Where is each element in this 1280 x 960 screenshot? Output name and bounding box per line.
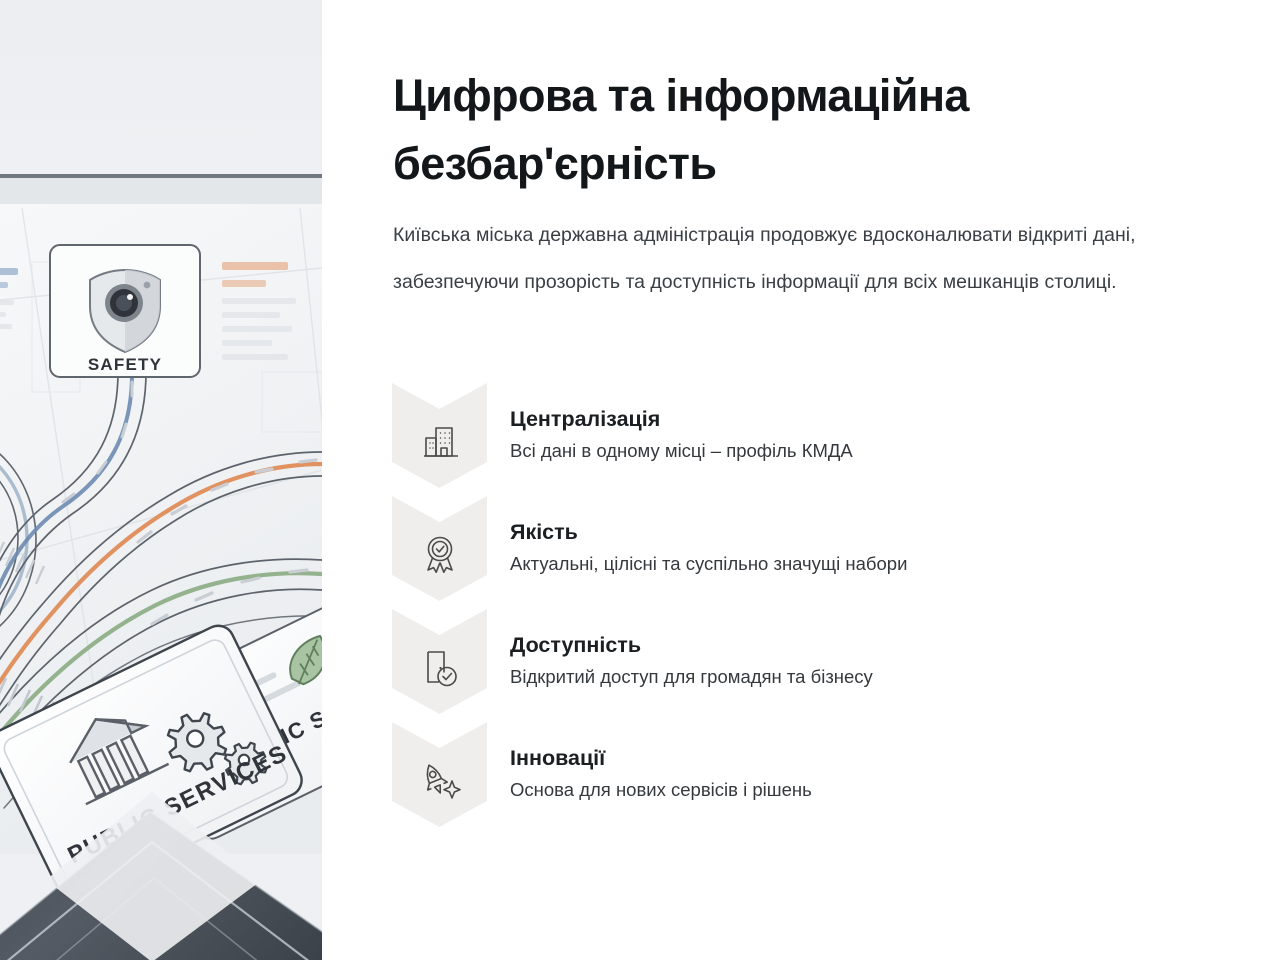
badge-innovation [392, 722, 487, 835]
feature-description: Відкритий доступ для громадян та бізнесу [510, 663, 1212, 690]
feature-title: Інновації [510, 744, 1212, 772]
award-medal-check-icon [421, 534, 459, 576]
badge-accessibility [392, 609, 487, 722]
building-icon [421, 422, 459, 462]
badge-quality [392, 496, 487, 609]
slide-root: SAFETY PUBLIC SERV [0, 0, 1280, 960]
list-item[interactable]: Якість Актуальні, цілісні та суспільно з… [392, 496, 1212, 609]
infrastructure-illustration: SAFETY PUBLIC SERV [0, 0, 322, 960]
content-panel: Цифрова та інформаційна безбар'єрність К… [322, 0, 1280, 960]
safety-card: SAFETY [50, 245, 200, 377]
list-item[interactable]: Інновації Основа для нових сервісів і рі… [392, 722, 1212, 835]
illustration-panel: SAFETY PUBLIC SERV [0, 0, 322, 960]
feature-title: Доступність [510, 631, 1212, 659]
badge-centralization [392, 383, 487, 496]
feature-description: Актуальні, цілісні та суспільно значущі … [510, 550, 1212, 577]
list-item[interactable]: Централізація Всі дані в одному місці – … [392, 383, 1212, 496]
feature-text: Централізація Всі дані в одному місці – … [487, 383, 1212, 464]
feature-list: Централізація Всі дані в одному місці – … [392, 383, 1212, 835]
feature-text: Якість Актуальні, цілісні та суспільно з… [487, 496, 1212, 577]
feature-description: Всі дані в одному місці – профіль КМДА [510, 437, 1212, 464]
page-title: Цифрова та інформаційна безбар'єрність [393, 62, 1093, 198]
rocket-sparkle-icon [419, 761, 461, 801]
feature-description: Основа для нових сервісів і рішень [510, 776, 1212, 803]
intro-paragraph: Київська міська державна адміністрація п… [393, 212, 1211, 306]
svg-text:SAFETY: SAFETY [88, 355, 162, 374]
feature-text: Інновації Основа для нових сервісів і рі… [487, 722, 1212, 803]
list-item[interactable]: Доступність Відкритий доступ для громадя… [392, 609, 1212, 722]
door-check-icon [421, 648, 459, 688]
feature-title: Централізація [510, 405, 1212, 433]
feature-title: Якість [510, 518, 1212, 546]
feature-text: Доступність Відкритий доступ для громадя… [487, 609, 1212, 690]
